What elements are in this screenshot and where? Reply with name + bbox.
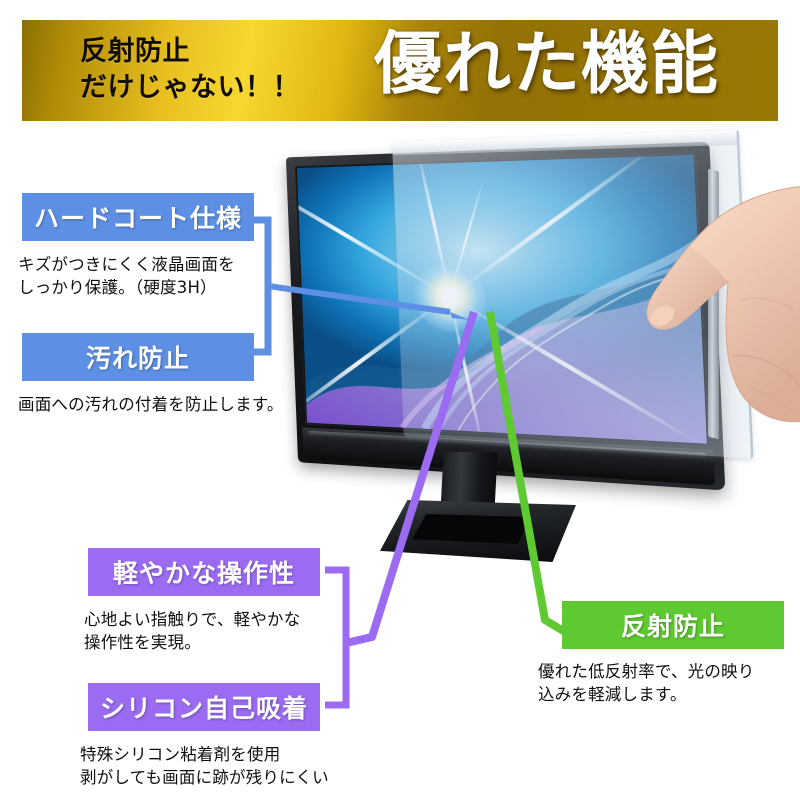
pointing-hand [600, 178, 800, 478]
callout-title-anti-stain: 汚れ防止 [86, 339, 190, 375]
banner-subheadline: 反射防止 だけじゃない！！ [80, 34, 380, 105]
header-banner: 反射防止 だけじゃない！！ 優れた機能 [22, 20, 778, 121]
monitor-stand-cutout [412, 514, 530, 544]
callout-title-anti-reflection: 反射防止 [621, 607, 725, 643]
callout-label-hard-coat[interactable]: ハードコート仕様 [22, 193, 254, 241]
callout-title-silicone-adhesion: シリコン自己吸着 [100, 689, 308, 725]
callout-desc-hard-coat: キズがつきにくく液晶画面を しっかり保護。（硬度3H） [18, 254, 278, 300]
infographic-canvas: 反射防止 だけじゃない！！ 優れた機能 [0, 0, 800, 800]
callout-title-light-operation: 軽やかな操作性 [113, 554, 295, 590]
callout-desc-silicone-adhesion: 特殊シリコン粘着剤を使用 剥がしても画面に跡が残りにくい [80, 744, 380, 790]
film-top-edge [392, 130, 737, 155]
callout-label-anti-reflection[interactable]: 反射防止 [562, 601, 784, 649]
callout-desc-anti-stain: 画面への汚れの付着を防止します。 [18, 394, 298, 417]
callout-label-silicone-adhesion[interactable]: シリコン自己吸着 [88, 683, 320, 731]
callout-label-light-operation[interactable]: 軽やかな操作性 [88, 548, 320, 596]
callout-desc-anti-reflection: 優れた低反射率で、光の映り 込みを軽減します。 [538, 661, 796, 707]
callout-title-hard-coat: ハードコート仕様 [34, 199, 242, 235]
callout-label-anti-stain[interactable]: 汚れ防止 [22, 333, 254, 381]
callout-desc-light-operation: 心地よい指触りで、軽やかな 操作性を実現。 [84, 609, 334, 655]
banner-headline: 優れた機能 [374, 20, 774, 116]
